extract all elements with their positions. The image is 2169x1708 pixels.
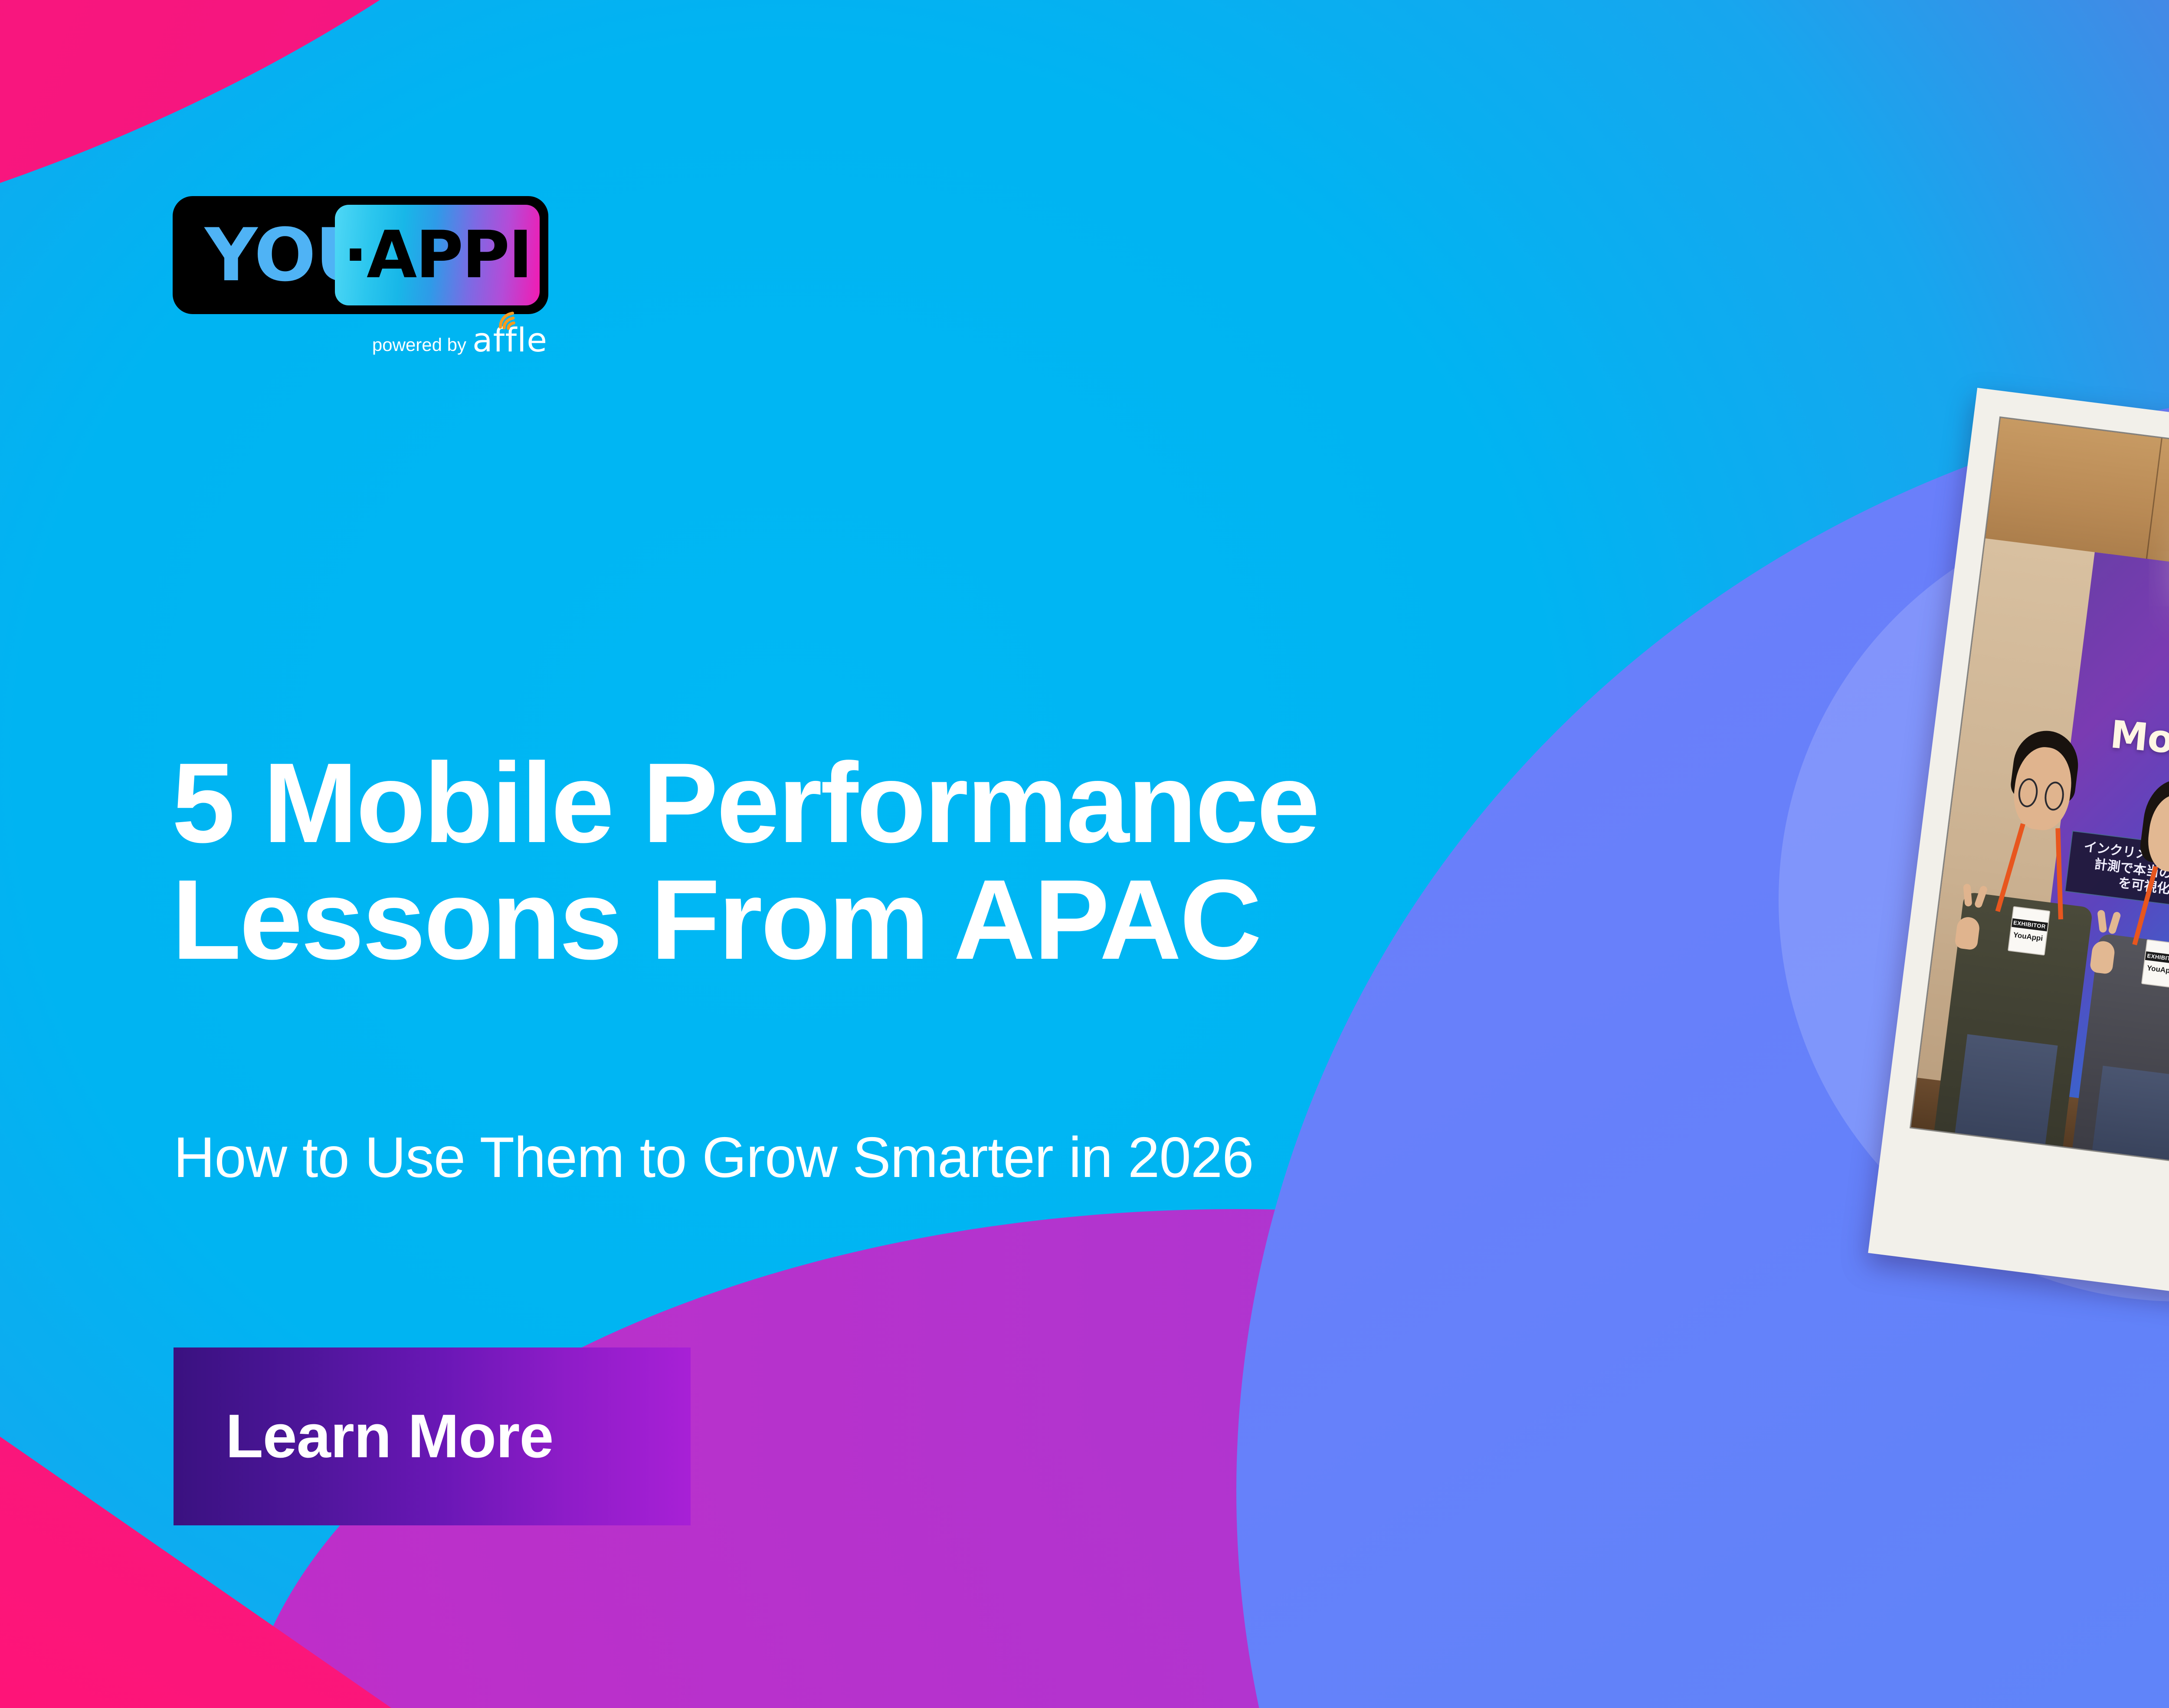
- person-1-badge: EXHIBITOR YouAppi: [2008, 906, 2050, 955]
- headline-line-2: Lessons From APAC: [172, 861, 1733, 978]
- promo-banner: YOU ·APPI powered by affle 5 Mobile Perf…: [0, 0, 2169, 1708]
- learn-more-button[interactable]: Learn More: [174, 1347, 691, 1525]
- page-subtitle: How to Use Them to Grow Smarter in 2026: [174, 1124, 1735, 1190]
- person-1-legs: [1955, 1034, 2058, 1144]
- person-2-badge-name: YouAppi: [2143, 963, 2169, 976]
- person-2-peace-hand: [2089, 940, 2116, 975]
- logo-appi-gradient-box: ·APPI: [335, 205, 540, 305]
- person-2-legs: [2092, 1066, 2169, 1161]
- youappi-logo[interactable]: YOU ·APPI powered by affle: [173, 196, 554, 357]
- powered-by-label: powered by: [372, 336, 466, 357]
- affle-wordmark: affle: [472, 324, 547, 357]
- logo-appi-text: ·APPI: [335, 223, 540, 288]
- wifi-signal-icon: [498, 309, 522, 330]
- person-2-lanyard-left: [2132, 865, 2158, 945]
- person-1-badge-name: YouAppi: [2010, 930, 2046, 943]
- logo-mark: YOU ·APPI: [173, 196, 548, 314]
- powered-by-affle: powered by affle: [173, 324, 554, 357]
- person-1-badge-role: EXHIBITOR: [2012, 918, 2048, 931]
- headline-line-1: 5 Mobile Performance: [172, 744, 1733, 862]
- learn-more-label: Learn More: [226, 1406, 553, 1467]
- person-2-badge-role: EXHIBITOR: [2145, 951, 2169, 964]
- page-title: 5 Mobile Performance Lessons From APAC: [172, 744, 1733, 979]
